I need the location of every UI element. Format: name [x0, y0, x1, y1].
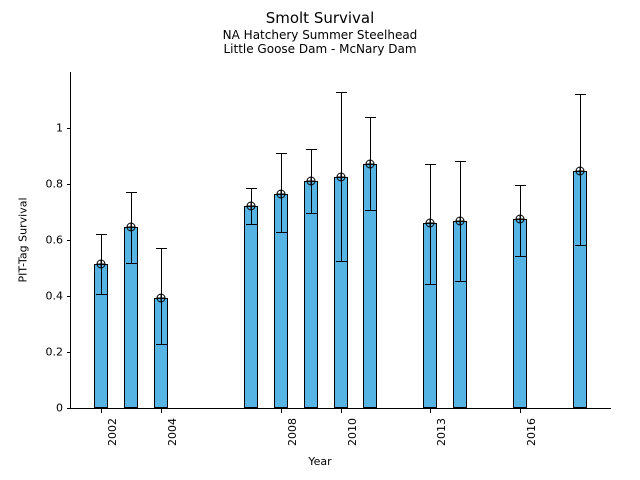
chart-subtitle-2: Little Goose Dam - McNary Dam [0, 42, 640, 56]
error-bar-cap-upper [455, 161, 466, 162]
x-tick-mark [281, 409, 282, 413]
error-bar-cap-lower [575, 245, 586, 246]
y-tick-label: 0.6 [37, 234, 63, 247]
error-bar-cap-upper [425, 164, 436, 165]
data-point-marker[interactable] [336, 173, 345, 182]
y-tick-mark [67, 184, 71, 185]
data-point-marker[interactable] [366, 159, 375, 168]
y-tick-mark [67, 352, 71, 353]
error-bar-cap-lower [246, 224, 257, 225]
data-point-marker[interactable] [426, 219, 435, 228]
data-point-marker[interactable] [246, 201, 255, 210]
error-bar-cap-lower [156, 344, 167, 345]
data-point-marker[interactable] [276, 189, 285, 198]
error-bar-cap-upper [575, 94, 586, 95]
y-tick-label: 0.2 [37, 346, 63, 359]
y-tick-mark [67, 408, 71, 409]
y-tick-mark [67, 128, 71, 129]
x-tick-label: 2002 [106, 418, 119, 446]
x-tick-mark [161, 409, 162, 413]
y-tick-label: 1 [37, 122, 63, 135]
y-axis-label: PIT-Tag Survival [17, 197, 30, 282]
x-tick-label: 2010 [346, 418, 359, 446]
error-bar-cap-lower [515, 256, 526, 257]
data-point-marker[interactable] [576, 166, 585, 175]
error-bar-cap-upper [515, 185, 526, 186]
bar[interactable] [304, 181, 318, 408]
data-point-marker[interactable] [96, 259, 105, 268]
error-bar-cap-upper [336, 92, 347, 93]
x-tick-mark [430, 409, 431, 413]
x-tick-label: 2016 [525, 418, 538, 446]
error-bar-cap-lower [276, 232, 287, 233]
x-tick-mark [341, 409, 342, 413]
y-tick-label: 0.8 [37, 178, 63, 191]
chart-title: Smolt Survival [0, 10, 640, 28]
data-point-marker[interactable] [516, 215, 525, 224]
error-bar-cap-lower [365, 210, 376, 211]
error-bar-cap-upper [246, 188, 257, 189]
chart-title-block: Smolt Survival NA Hatchery Summer Steelh… [0, 10, 640, 56]
chart-subtitle-1: NA Hatchery Summer Steelhead [0, 28, 640, 42]
chart-figure: Smolt Survival NA Hatchery Summer Steelh… [0, 0, 640, 480]
y-tick-label: 0.4 [37, 290, 63, 303]
data-point-marker[interactable] [156, 293, 165, 302]
data-point-marker[interactable] [126, 223, 135, 232]
y-tick-mark [67, 296, 71, 297]
plot-area: 00.20.40.60.81 200220042008201020132016 … [71, 72, 610, 408]
error-bar-cap-upper [276, 153, 287, 154]
error-bar-cap-lower [96, 294, 107, 295]
error-bar-cap-upper [96, 234, 107, 235]
error-bar-cap-upper [156, 248, 167, 249]
error-bar-cap-upper [306, 149, 317, 150]
bar[interactable] [244, 206, 258, 408]
error-bar-cap-lower [425, 284, 436, 285]
error-bar-cap-lower [126, 263, 137, 264]
error-bar-cap-lower [306, 213, 317, 214]
x-tick-mark [101, 409, 102, 413]
x-tick-label: 2013 [435, 418, 448, 446]
x-tick-label: 2008 [286, 418, 299, 446]
x-tick-mark [520, 409, 521, 413]
y-tick-mark [67, 240, 71, 241]
y-tick-label: 0 [37, 402, 63, 415]
error-bar-cap-upper [365, 117, 376, 118]
error-bar-cap-upper [126, 192, 137, 193]
x-axis-label: Year [0, 455, 640, 468]
error-bar-cap-lower [455, 281, 466, 282]
x-tick-label: 2004 [166, 418, 179, 446]
data-point-marker[interactable] [306, 176, 315, 185]
error-bar-cap-lower [336, 261, 347, 262]
data-point-marker[interactable] [456, 216, 465, 225]
